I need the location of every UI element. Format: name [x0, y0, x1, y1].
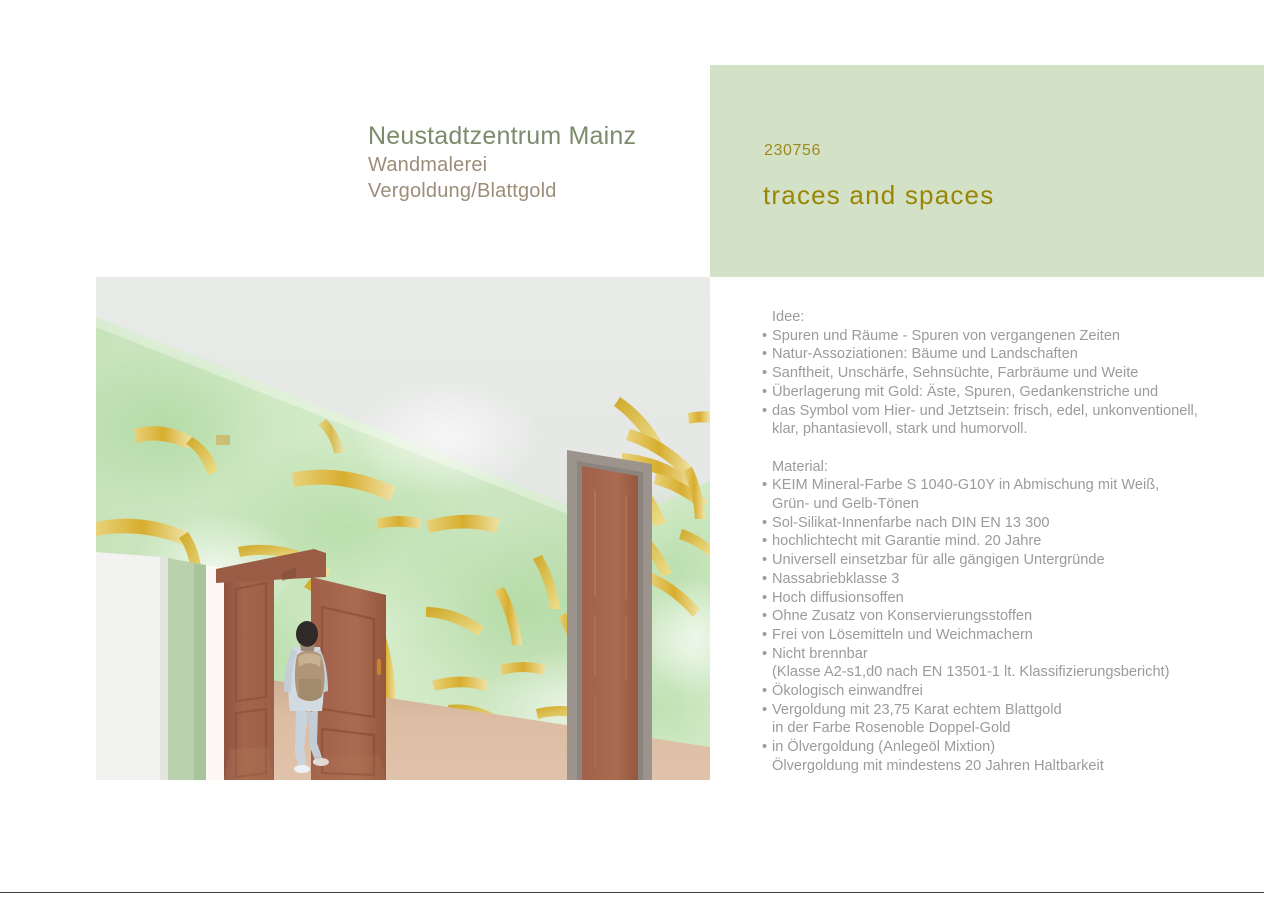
list-item-text: Nassabriebklasse 3 — [772, 571, 899, 587]
project-code: 230756 — [764, 141, 821, 161]
bullet-icon: • — [762, 364, 767, 383]
list-item-text: Sol-Silikat-Innenfarbe nach DIN EN 13 30… — [772, 515, 1049, 531]
list-item: • Ökologisch einwandfrei — [762, 682, 1232, 701]
list-item-text: Überlagerung mit Gold: Äste, Spuren, Ged… — [772, 384, 1158, 400]
list-item-text: Hoch diffusionsoffen — [772, 590, 904, 606]
bullet-icon: • — [762, 327, 767, 346]
list-item-text: Sanftheit, Unschärfe, Sehnsüchte, Farbrä… — [772, 365, 1138, 381]
list-item-text: hochlichtecht mit Garantie mind. 20 Jahr… — [772, 533, 1041, 549]
list-item: • Hoch diffusionsoffen — [762, 589, 1232, 608]
list-item: • Nassabriebklasse 3 — [762, 570, 1232, 589]
list-item: • KEIM Mineral-Farbe S 1040-G10Y in Abmi… — [762, 476, 1232, 495]
list-item: • Spuren und Räume - Spuren von vergange… — [762, 327, 1232, 346]
list-item: • Sanftheit, Unschärfe, Sehnsüchte, Farb… — [762, 364, 1232, 383]
list-item-continuation: klar, phantasievoll, stark und humorvoll… — [762, 420, 1232, 439]
bullet-icon: • — [762, 607, 767, 626]
bullet-icon: • — [762, 701, 767, 720]
section-heading-material: Material: — [772, 458, 1232, 477]
list-item-text: Natur-Assoziationen: Bäume und Landschaf… — [772, 346, 1078, 362]
title-block: Neustadtzentrum Mainz Wandmalerei Vergol… — [368, 120, 698, 204]
bullet-icon: • — [762, 402, 767, 421]
bullet-icon: • — [762, 570, 767, 589]
bullet-icon: • — [762, 626, 767, 645]
list-item: • Natur-Assoziationen: Bäume und Landsch… — [762, 345, 1232, 364]
list-item: • Ohne Zusatz von Konservierungsstoffen — [762, 607, 1232, 626]
interior-room-visualization — [96, 277, 710, 780]
list-item-continuation: Ölvergoldung mit mindestens 20 Jahren Ha… — [762, 757, 1232, 776]
list-item: • in Ölvergoldung (Anlegeöl Mixtion) — [762, 738, 1232, 757]
list-item: • Vergoldung mit 23,75 Karat echtem Blat… — [762, 701, 1232, 720]
subtitle-vergoldung: Vergoldung/Blattgold — [368, 178, 698, 204]
bullet-icon: • — [762, 682, 767, 701]
list-item: • Überlagerung mit Gold: Äste, Spuren, G… — [762, 383, 1232, 402]
list-item: • das Symbol vom Hier- und Jetztsein: fr… — [762, 402, 1232, 421]
list-item: • Universell einsetzbar für alle gängige… — [762, 551, 1232, 570]
footer-divider — [0, 892, 1264, 893]
bullet-icon: • — [762, 738, 767, 757]
list-item: • Frei von Lösemitteln und Weichmachern — [762, 626, 1232, 645]
bullet-icon: • — [762, 476, 767, 495]
page-title: Neustadtzentrum Mainz — [368, 120, 698, 152]
bullet-icon: • — [762, 532, 767, 551]
list-item-text: KEIM Mineral-Farbe S 1040-G10Y in Abmisc… — [772, 477, 1159, 493]
bullet-icon: • — [762, 645, 767, 664]
bullet-icon: • — [762, 383, 767, 402]
list-item: • Sol-Silikat-Innenfarbe nach DIN EN 13 … — [762, 514, 1232, 533]
bullet-icon: • — [762, 345, 767, 364]
list-item-text: Universell einsetzbar für alle gängigen … — [772, 552, 1105, 568]
list-item-continuation: (Klasse A2-s1,d0 nach EN 13501-1 lt. Kla… — [762, 663, 1232, 682]
list-item-text: Nicht brennbar — [772, 646, 868, 662]
list-item-text: Frei von Lösemitteln und Weichmachern — [772, 627, 1033, 643]
header-headline: traces and spaces — [763, 178, 994, 212]
list-item-text: in Ölvergoldung (Anlegeöl Mixtion) — [772, 739, 995, 755]
list-item-text: Ökologisch einwandfrei — [772, 683, 923, 699]
list-item-text: das Symbol vom Hier- und Jetztsein: fris… — [772, 403, 1198, 419]
specification-column: Idee: • Spuren und Räume - Spuren von ve… — [762, 308, 1232, 776]
header-panel: 230756 traces and spaces — [710, 65, 1264, 277]
list-item-continuation: Grün- und Gelb-Tönen — [762, 495, 1232, 514]
list-item: • Nicht brennbar — [762, 645, 1232, 664]
subtitle-wandmalerei: Wandmalerei — [368, 152, 698, 178]
bullet-icon: • — [762, 514, 767, 533]
list-item-text: Ohne Zusatz von Konservierungsstoffen — [772, 608, 1032, 624]
section-heading-idee: Idee: — [772, 308, 1232, 327]
bullet-icon: • — [762, 551, 767, 570]
list-item-text: Spuren und Räume - Spuren von vergangene… — [772, 328, 1120, 344]
list-item-text: Vergoldung mit 23,75 Karat echtem Blattg… — [772, 702, 1062, 718]
list-item: • hochlichtecht mit Garantie mind. 20 Ja… — [762, 532, 1232, 551]
bullet-icon: • — [762, 589, 767, 608]
list-item-continuation: in der Farbe Rosenoble Doppel-Gold — [762, 719, 1232, 738]
section-spacer — [762, 439, 1232, 458]
